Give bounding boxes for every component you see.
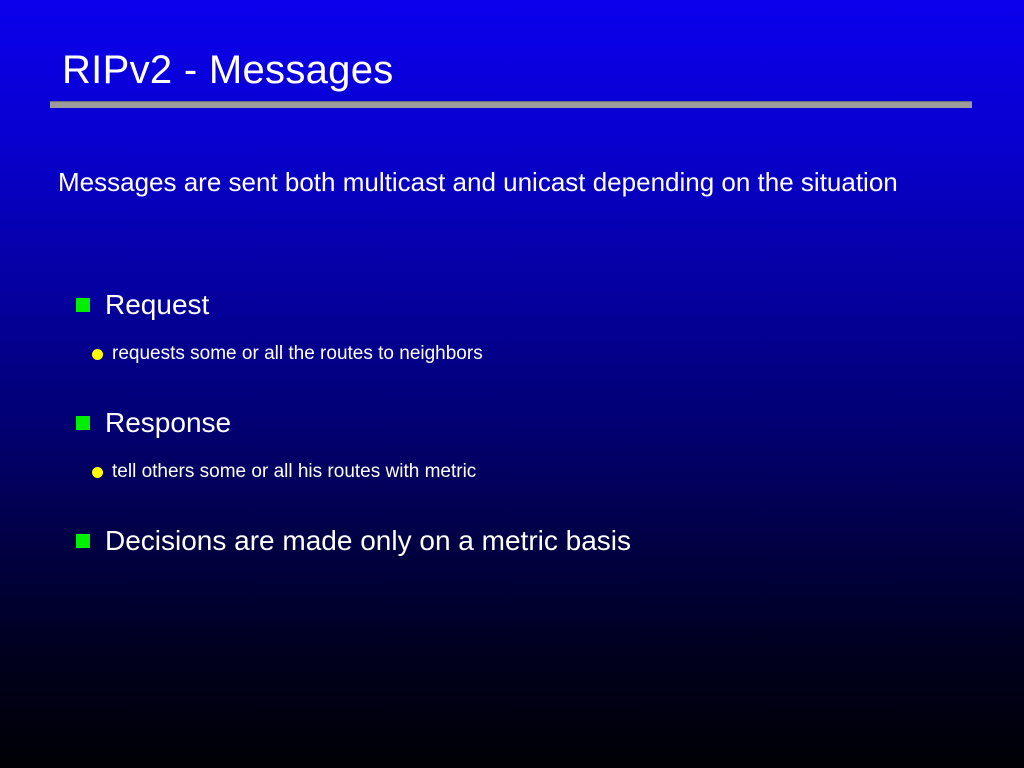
list-item: Decisions are made only on a metric basi… bbox=[0, 522, 1024, 560]
slide: RIPv2 - Messages Messages are sent both … bbox=[0, 0, 1024, 768]
spacer bbox=[0, 486, 1024, 522]
list-item: Response bbox=[0, 404, 1024, 442]
green-square-bullet-icon bbox=[76, 416, 90, 430]
spacer bbox=[0, 324, 1024, 340]
green-square-bullet-icon bbox=[76, 298, 90, 312]
list-item-label: Decisions are made only on a metric basi… bbox=[105, 525, 631, 556]
lead-paragraph: Messages are sent both multicast and uni… bbox=[58, 160, 938, 205]
yellow-dot-bullet-icon bbox=[92, 349, 103, 360]
list-item: requests some or all the routes to neigh… bbox=[0, 340, 1024, 368]
slide-body: Messages are sent both multicast and uni… bbox=[0, 0, 1024, 768]
list-item-label: tell others some or all his routes with … bbox=[112, 461, 476, 482]
list-item-label: Response bbox=[105, 407, 231, 438]
spacer bbox=[0, 368, 1024, 404]
list-item-label: requests some or all the routes to neigh… bbox=[112, 343, 483, 364]
list-item: tell others some or all his routes with … bbox=[0, 458, 1024, 486]
list-item-label: Request bbox=[105, 289, 209, 320]
green-square-bullet-icon bbox=[76, 534, 90, 548]
list-item: Request bbox=[0, 286, 1024, 324]
bullet-list: Request requests some or all the routes … bbox=[0, 286, 1024, 560]
yellow-dot-bullet-icon bbox=[92, 467, 103, 478]
spacer bbox=[0, 442, 1024, 458]
